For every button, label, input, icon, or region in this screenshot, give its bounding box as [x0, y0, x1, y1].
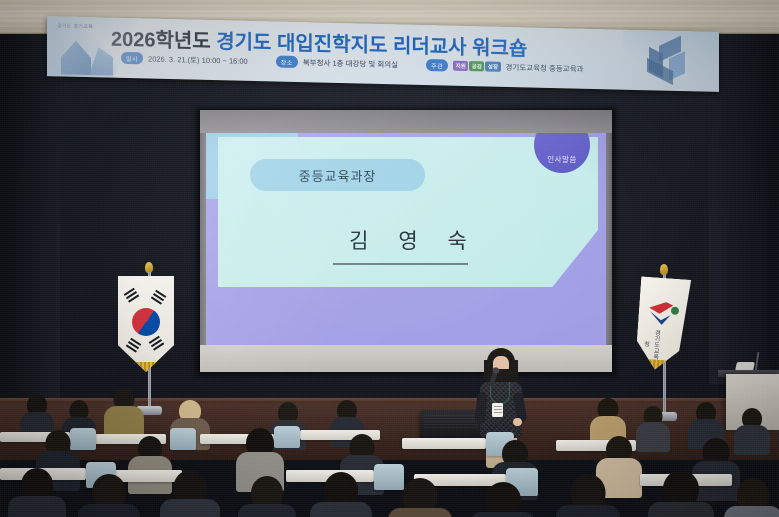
date-value: 2026. 3. 21.(토) 10:00 ~ 16:00 — [148, 53, 248, 66]
audience-area — [0, 386, 779, 517]
trigram-icon-1 — [124, 288, 141, 305]
host-logo-part-1: 지원 — [453, 61, 468, 71]
desk — [402, 438, 486, 449]
trigram-icon-3 — [125, 338, 142, 355]
host-logo-part-3: 성장 — [485, 61, 500, 71]
host-logo-part-2: 공감 — [469, 61, 484, 71]
audience-member — [388, 478, 452, 517]
presentation-slide: 중등교육과장 김 영 숙 인사말씀 — [206, 133, 606, 345]
taeguk-symbol-icon — [132, 308, 160, 336]
banner-org-mark: 경기도 경기교육 — [57, 22, 93, 30]
audience-member — [470, 482, 536, 517]
screen-top-margin — [200, 110, 612, 133]
audience-member — [78, 474, 140, 517]
chair-back — [170, 428, 196, 450]
banner-title-year: 2026학년도 — [111, 29, 216, 53]
audience-member — [8, 468, 66, 517]
audience-member — [556, 474, 620, 517]
audience-member — [104, 388, 144, 440]
role-pill: 중등교육과장 — [250, 159, 425, 191]
place-tag: 장소 — [276, 55, 298, 68]
right-wall — [709, 34, 779, 384]
emblem-green-dot-icon — [671, 307, 680, 316]
place-value: 북부청사 1층 대강당 및 회의실 — [303, 57, 398, 70]
banner-date-segment: 일시 2026. 3. 21.(토) 10:00 ~ 16:00 — [121, 52, 248, 67]
audience-member — [238, 476, 296, 517]
trigram-icon-4 — [149, 336, 166, 353]
banner-host-segment: 주관 지원 공감 성장 경기도교육청 중등교육과 — [426, 59, 583, 75]
host-tag: 주관 — [426, 59, 448, 72]
screenshot-root: 경기도 경기교육 2026학년도 경기도 대입진학지도 리더교사 워크숍 일시 … — [0, 0, 779, 517]
audience-member — [648, 470, 714, 517]
trigram-icon-2 — [150, 290, 167, 307]
speaker-name-underline — [333, 263, 468, 265]
screen-bottom-margin — [200, 345, 612, 372]
audience-member — [310, 472, 372, 517]
banner-place-segment: 장소 북부청사 1층 대강당 및 회의실 — [276, 55, 398, 70]
projection-screen: 중등교육과장 김 영 숙 인사말씀 — [200, 110, 612, 372]
date-tag: 일시 — [121, 52, 143, 65]
audience-member — [160, 470, 220, 517]
emblem-red-icon — [649, 301, 674, 315]
host-logo-icon: 지원 공감 성장 — [453, 61, 500, 72]
host-value: 경기도교육청 중등교육과 — [506, 61, 584, 74]
audience-member — [724, 478, 779, 517]
left-wall — [0, 34, 60, 424]
speaker-name: 김 영 숙 — [218, 225, 598, 255]
